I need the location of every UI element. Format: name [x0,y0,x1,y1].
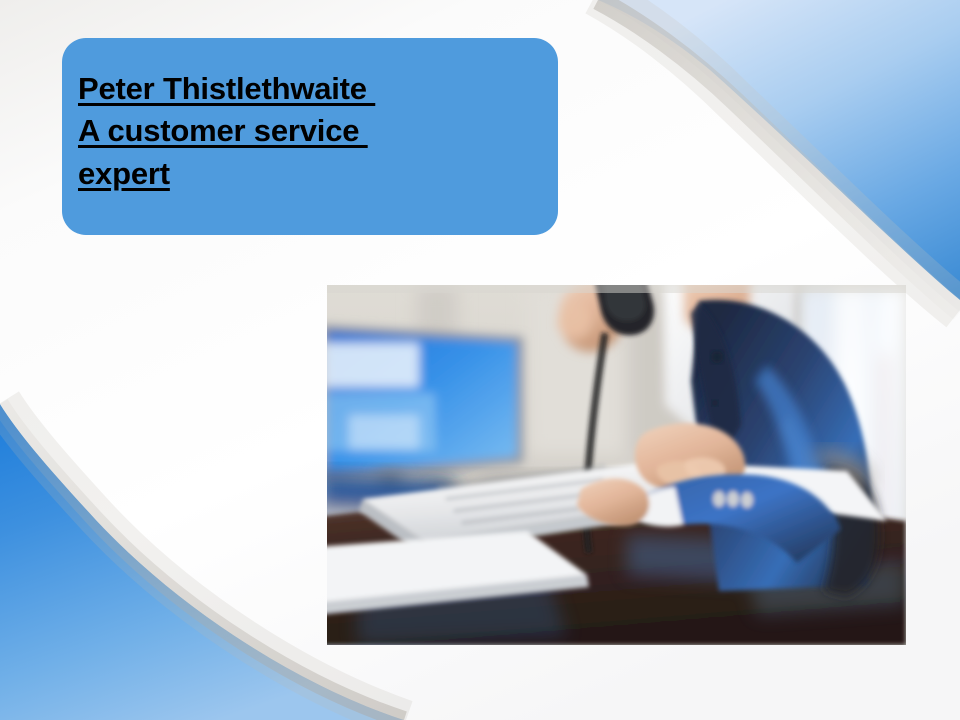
title-line-3: expert [78,156,170,191]
title-line-1: Peter Thistlethwaite [78,71,375,106]
photo-artwork [327,285,906,645]
slide-canvas: Peter Thistlethwaite A customer service … [0,0,960,720]
title-card: Peter Thistlethwaite A customer service … [62,38,558,235]
title-line-2: A customer service [78,113,368,148]
page-title: Peter Thistlethwaite A customer service … [78,68,532,195]
office-phone-call-photo [327,285,906,645]
